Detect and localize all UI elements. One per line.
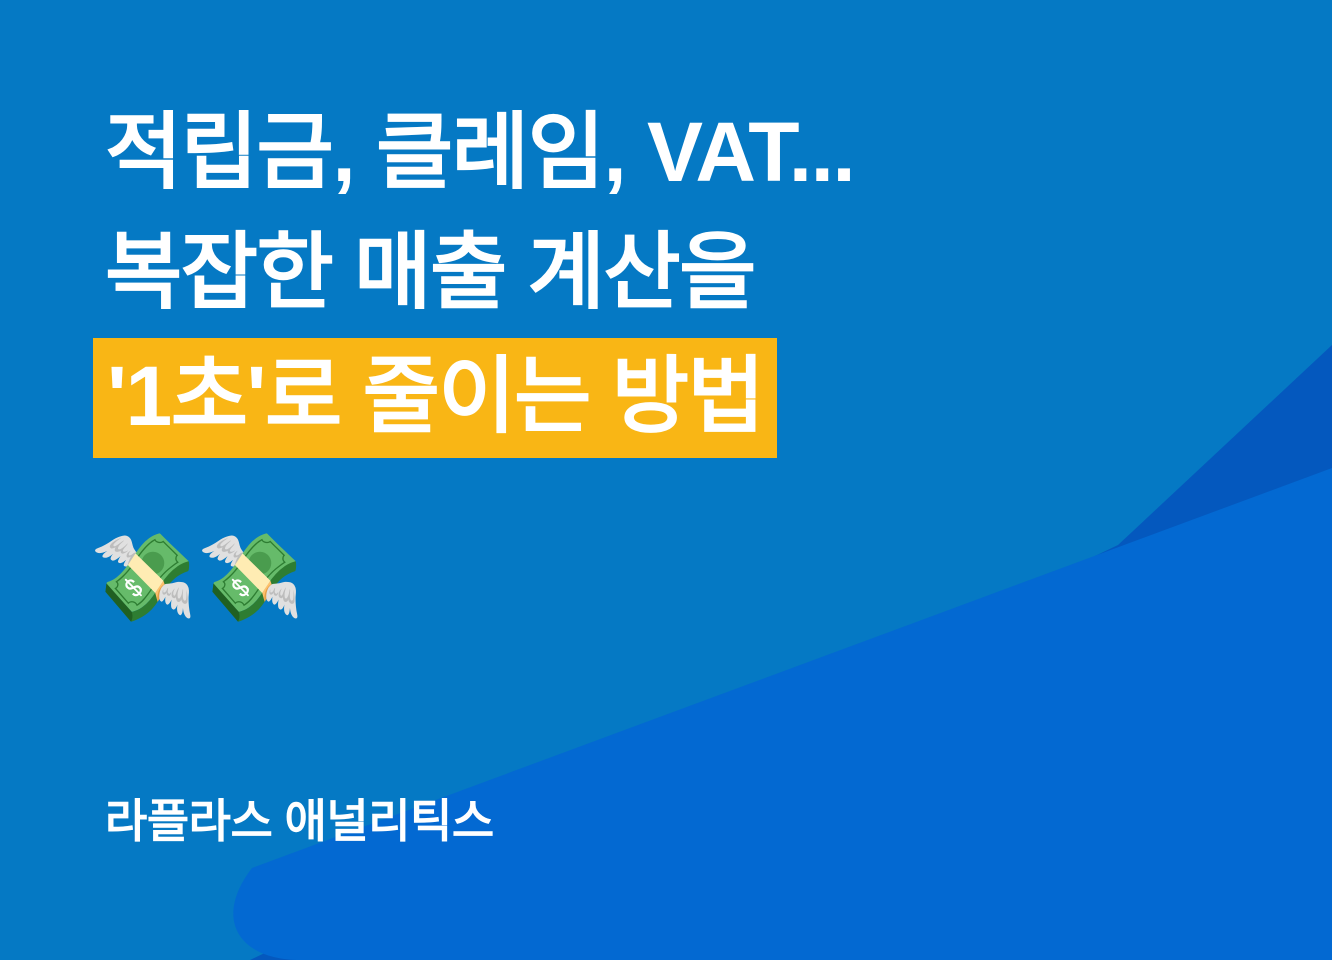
- slide-canvas: 적립금, 클레임, VAT... 복잡한 매출 계산을 '1초'로 줄이는 방법…: [0, 0, 1332, 960]
- headline-line-1: 적립금, 클레임, VAT...: [93, 92, 1193, 212]
- headline-block: 적립금, 클레임, VAT... 복잡한 매출 계산을 '1초'로 줄이는 방법: [93, 92, 1193, 458]
- money-with-wings-icon: 💸💸: [90, 528, 304, 628]
- headline-line-3-highlighted: '1초'로 줄이는 방법: [93, 338, 777, 458]
- brand-name: 라플라스 애널리틱스: [105, 793, 494, 849]
- slide-content: 적립금, 클레임, VAT... 복잡한 매출 계산을 '1초'로 줄이는 방법…: [0, 0, 1332, 960]
- headline-line-2: 복잡한 매출 계산을: [93, 212, 1193, 332]
